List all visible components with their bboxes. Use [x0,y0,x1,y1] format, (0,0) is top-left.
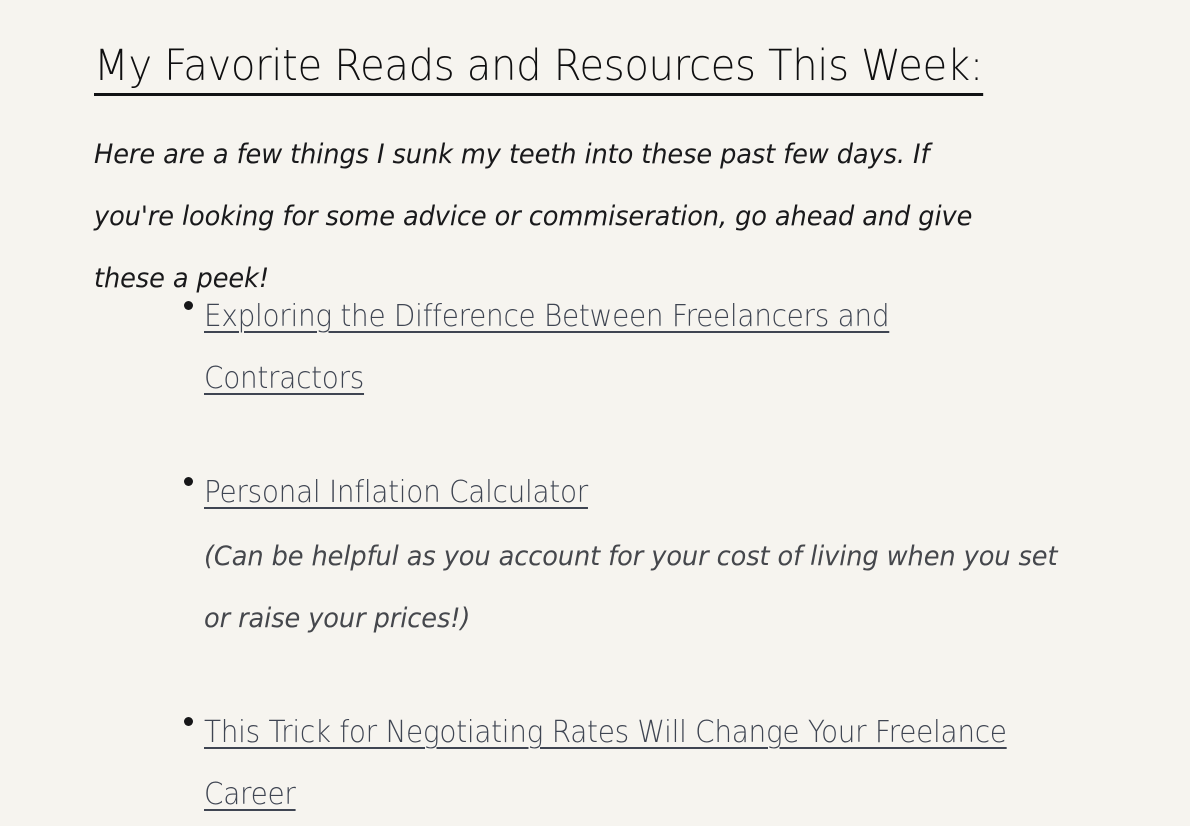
resource-link-inflation-calculator[interactable]: Personal Inflation Calculator [204,462,588,524]
newsletter-page: My Favorite Reads and Resources This Wee… [0,0,1190,810]
page-title: My Favorite Reads and Resources This Wee… [94,42,983,96]
list-item: Personal Inflation Calculator (Can be he… [184,462,1114,650]
resource-note: (Can be helpful as you account for your … [204,526,1059,650]
resource-link-freelancers-contractors[interactable]: Exploring the Difference Between Freelan… [204,286,1050,410]
list-item: This Trick for Negotiating Rates Will Ch… [184,702,1114,826]
page-title-container: My Favorite Reads and Resources This Wee… [94,42,1045,96]
intro-paragraph: Here are a few things I sunk my teeth in… [94,124,997,310]
list-item: Exploring the Difference Between Freelan… [184,286,1114,410]
resources-list: Exploring the Difference Between Freelan… [184,286,1114,826]
resource-link-negotiating-rates[interactable]: This Trick for Negotiating Rates Will Ch… [204,702,1050,826]
